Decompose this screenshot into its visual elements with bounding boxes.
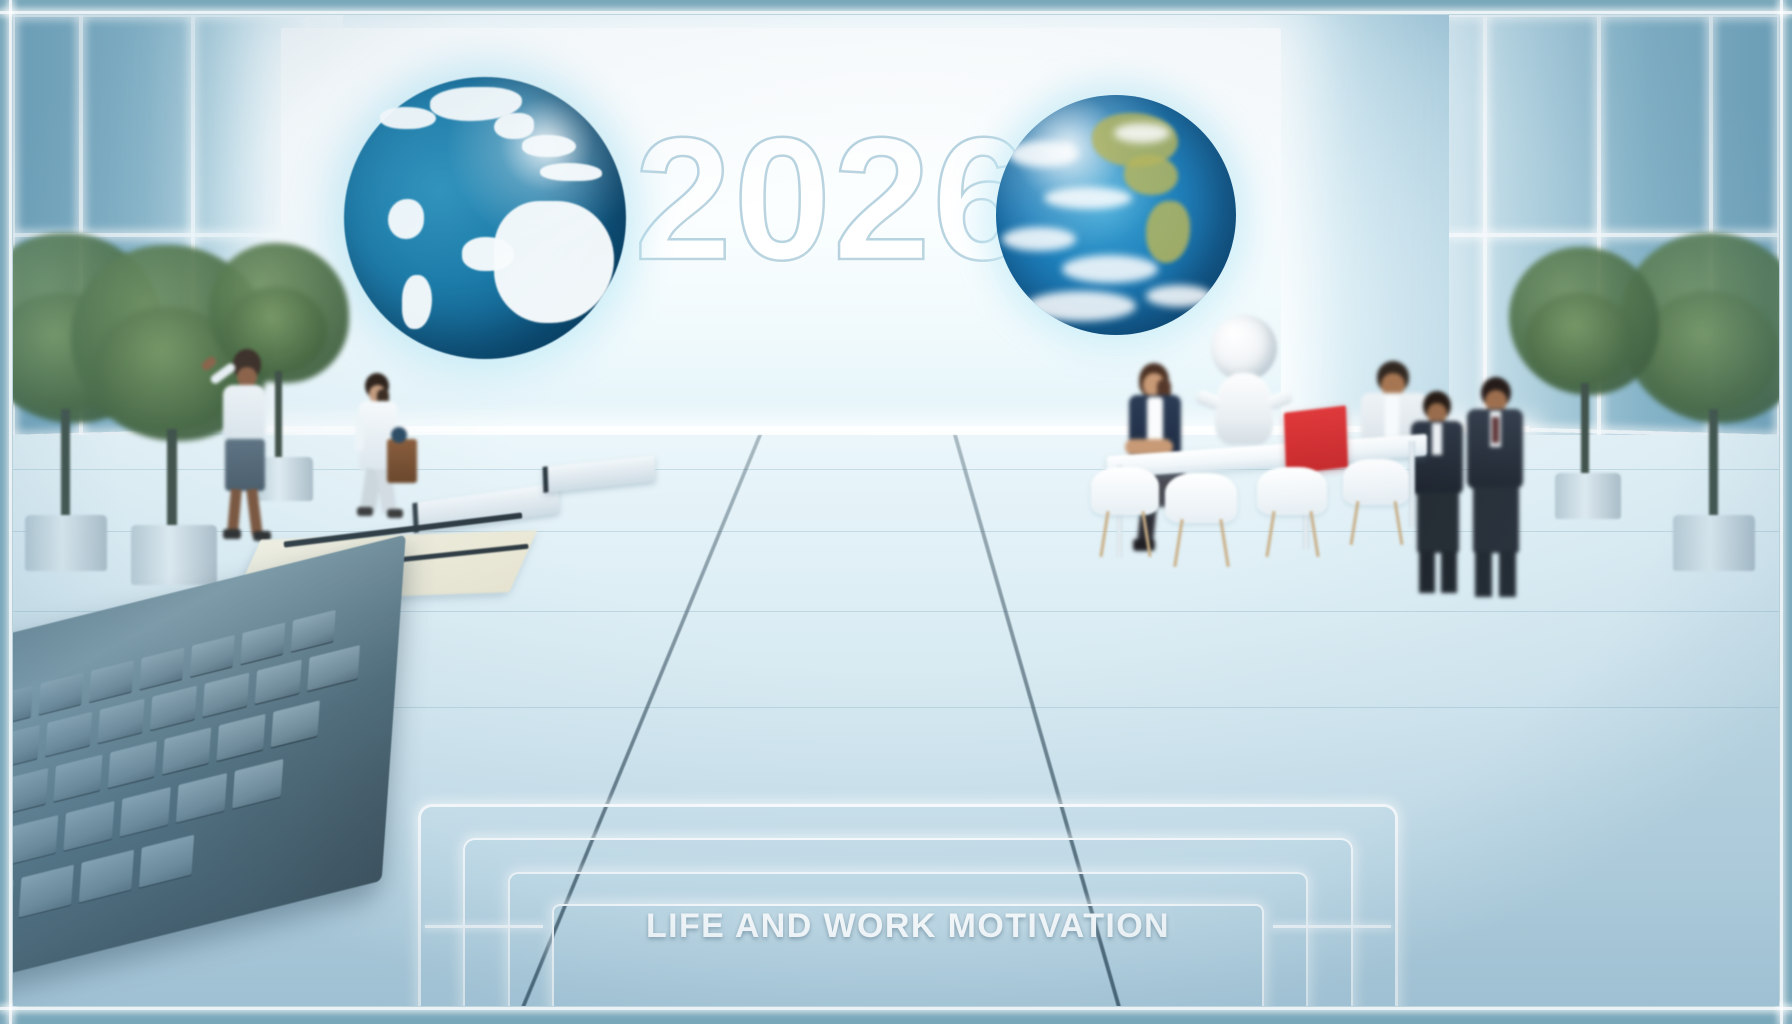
frame-bottom-glow-line [0, 1007, 1792, 1010]
year-headline: 2026 [633, 100, 1033, 300]
frame-right-glow-line [1780, 0, 1783, 1024]
title-rule-left [425, 925, 543, 928]
frame-top-glow-line [0, 11, 1792, 14]
globe-right-icon [996, 95, 1236, 335]
red-laptop [1284, 405, 1348, 474]
title-rule-right [1273, 925, 1391, 928]
office-chair [1091, 467, 1159, 559]
globe-left-icon [344, 77, 626, 359]
room-interior: 2026 [13, 15, 1779, 1006]
frame-left-glow-line [9, 0, 12, 1024]
meeting-area [1073, 305, 1533, 605]
banner-image: 2026 [0, 0, 1792, 1024]
title-banner: LIFE AND WORK MOTIVATION [313, 706, 1503, 1006]
banner-title: LIFE AND WORK MOTIVATION [538, 907, 1278, 946]
office-chair [1165, 473, 1237, 569]
person-pointing-at-wall [201, 347, 287, 545]
office-chair [1343, 459, 1409, 547]
office-chair [1257, 467, 1327, 559]
standing-businessman [1461, 377, 1533, 603]
handbag [387, 439, 417, 483]
